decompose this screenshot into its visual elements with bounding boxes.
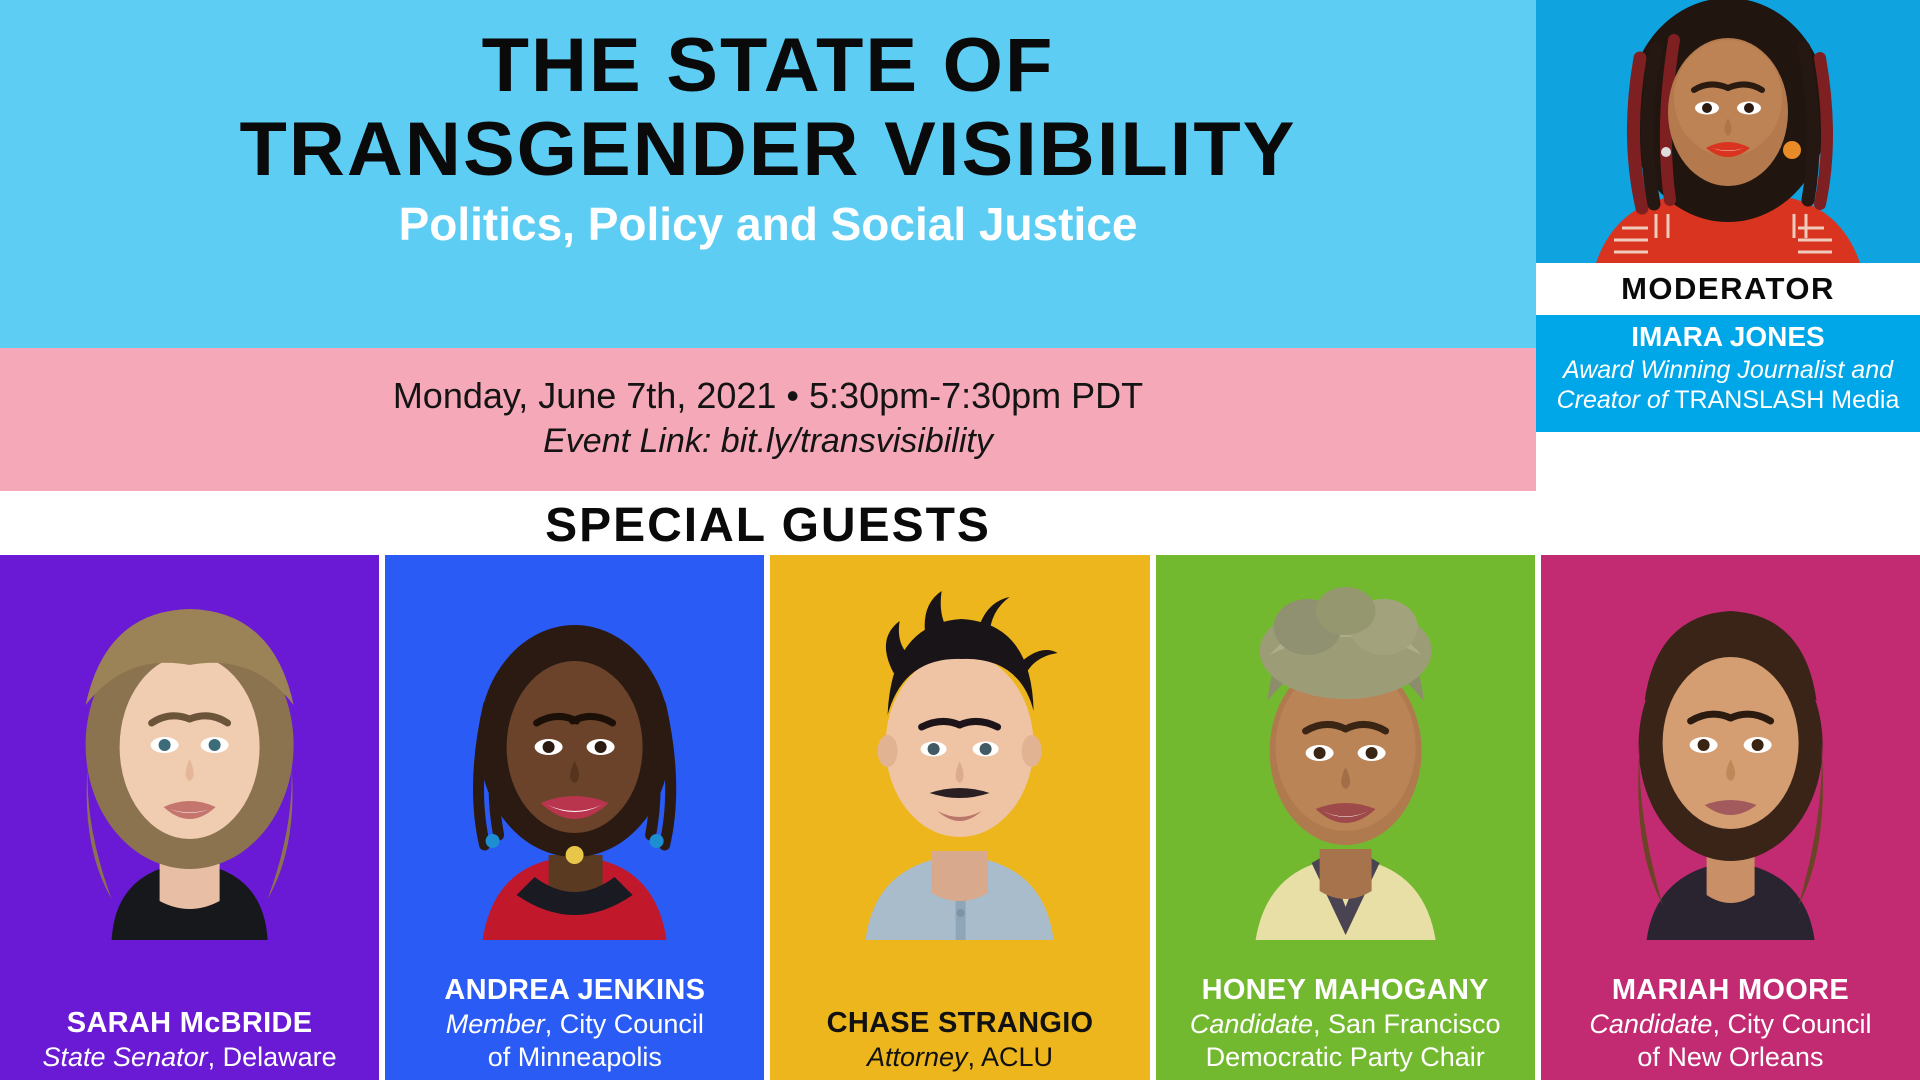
guest-name: CHASE STRANGIO [776, 1005, 1143, 1041]
guest-role: Candidate, San Francisco [1162, 1008, 1529, 1041]
guest-role-rest: , Delaware [208, 1042, 337, 1072]
guest-role-italic: Candidate [1589, 1009, 1712, 1039]
guest-photo-mariah-moore [1541, 555, 1920, 940]
guest-role-italic: Member [446, 1009, 545, 1039]
guest-role-italic: Attorney [867, 1042, 968, 1072]
moderator-info: IMARA JONES Award Winning Journalist and… [1536, 315, 1920, 432]
guest-role-line-2: of Minneapolis [391, 1041, 758, 1074]
header-section: THE STATE OF TRANSGENDER VISIBILITY Poli… [0, 0, 1536, 555]
event-link[interactable]: Event Link: bit.ly/transvisibility [0, 420, 1536, 462]
guest-role-italic: Candidate [1190, 1009, 1313, 1039]
guest-role: Member, City Council [391, 1008, 758, 1041]
guest-name: MARIAH MOORE [1547, 972, 1914, 1008]
special-guests-heading: SPECIAL GUESTS [0, 498, 1536, 554]
guest-role-rest: , City Council [545, 1009, 704, 1039]
event-datetime: Monday, June 7th, 2021 • 5:30pm-7:30pm P… [0, 374, 1536, 418]
guest-name: HONEY MAHOGANY [1162, 972, 1529, 1008]
guest-card-sarah-mcbride[interactable]: SARAH McBRIDE State Senator, Delaware [0, 555, 379, 1080]
guest-role-italic: State Senator [43, 1042, 208, 1072]
guest-name: ANDREA JENKINS [391, 972, 758, 1008]
guest-role: State Senator, Delaware [6, 1041, 373, 1074]
guest-card-chase-strangio[interactable]: CHASE STRANGIO Attorney, ACLU [770, 555, 1149, 1080]
title-line-2: TRANSGENDER VISIBILITY [0, 108, 1551, 192]
guest-caption-andrea-jenkins: ANDREA JENKINS Member, City Council of M… [385, 972, 764, 1074]
event-flyer: THE STATE OF TRANSGENDER VISIBILITY Poli… [0, 0, 1920, 1080]
guest-card-andrea-jenkins[interactable]: ANDREA JENKINS Member, City Council of M… [385, 555, 764, 1080]
subtitle: Politics, Policy and Social Justice [0, 196, 1536, 252]
moderator-name: IMARA JONES [1536, 319, 1920, 355]
guest-role-rest: , City Council [1712, 1009, 1871, 1039]
moderator-desc-italic-2: Creator of [1557, 386, 1668, 414]
guest-role: Candidate, City Council [1547, 1008, 1914, 1041]
moderator-label: MODERATOR [1536, 263, 1920, 315]
guest-role-rest: , ACLU [968, 1042, 1054, 1072]
guest-card-honey-mahogany[interactable]: HONEY MAHOGANY Candidate, San Francisco … [1156, 555, 1535, 1080]
guest-photo-honey-mahogany [1156, 555, 1535, 940]
moderator-photo [1536, 0, 1920, 263]
moderator-spacer [1536, 432, 1920, 555]
moderator-desc-italic-1: Award Winning Journalist and [1563, 356, 1893, 384]
guest-role-line-2: Democratic Party Chair [1162, 1041, 1529, 1074]
page-title: THE STATE OF TRANSGENDER VISIBILITY [0, 24, 1536, 192]
guest-role: Attorney, ACLU [776, 1041, 1143, 1074]
guest-caption-honey-mahogany: HONEY MAHOGANY Candidate, San Francisco … [1156, 972, 1535, 1074]
title-line-1: THE STATE OF [0, 24, 1551, 108]
guest-photo-andrea-jenkins [385, 555, 764, 940]
moderator-desc-roman-2: TRANSLASH Media [1668, 386, 1900, 414]
guest-photo-chase-strangio [770, 555, 1149, 940]
moderator-panel: MODERATOR IMARA JONES Award Winning Jour… [1536, 0, 1920, 555]
guest-caption-chase-strangio: CHASE STRANGIO Attorney, ACLU [770, 1005, 1149, 1074]
moderator-portrait-illustration [1536, 0, 1920, 263]
guest-photo-sarah-mcbride [0, 555, 379, 940]
guest-caption-mariah-moore: MARIAH MOORE Candidate, City Council of … [1541, 972, 1920, 1074]
moderator-description-line-2: Creator of TRANSLASH Media [1536, 385, 1920, 415]
moderator-description-line-1: Award Winning Journalist and [1536, 355, 1920, 385]
guest-role-rest: , San Francisco [1313, 1009, 1501, 1039]
guest-role-line-2: of New Orleans [1547, 1041, 1914, 1074]
guest-name: SARAH McBRIDE [6, 1005, 373, 1041]
guest-caption-sarah-mcbride: SARAH McBRIDE State Senator, Delaware [0, 1005, 379, 1074]
special-guests-row: SARAH McBRIDE State Senator, Delaware [0, 555, 1920, 1080]
guest-card-mariah-moore[interactable]: MARIAH MOORE Candidate, City Council of … [1541, 555, 1920, 1080]
